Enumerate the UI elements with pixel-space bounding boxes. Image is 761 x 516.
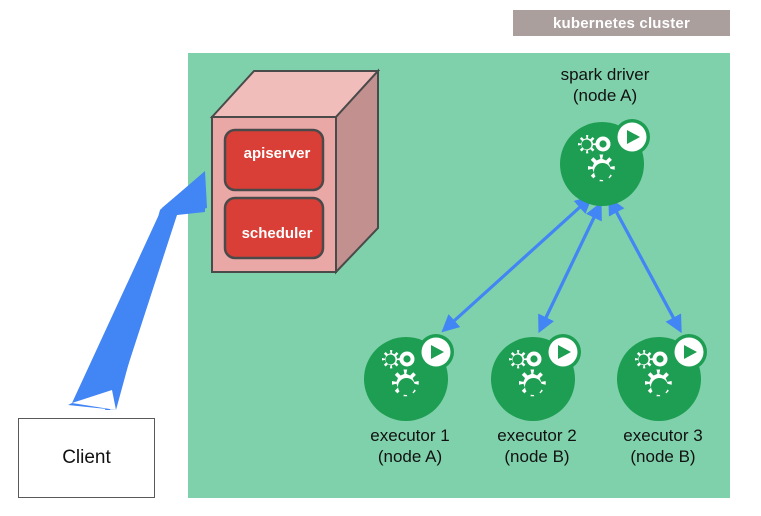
spark-driver-caption: spark driver (node A) [530, 64, 680, 107]
executor-2-node-icon[interactable] [487, 333, 583, 423]
client-label: Client [62, 447, 111, 469]
client-box[interactable]: Client [18, 418, 155, 498]
diagram-canvas: kubernetes cluster apiserver scheduler [0, 0, 761, 516]
spark-driver-node: (node A) [530, 85, 680, 106]
executor-3-caption: executor 3 (node B) [588, 425, 738, 468]
kubernetes-cluster-badge: kubernetes cluster [513, 10, 730, 36]
spark-driver-node-icon[interactable] [556, 118, 652, 208]
executor-1-node-icon[interactable] [360, 333, 456, 423]
scheduler-label: scheduler [217, 225, 337, 242]
apiserver-label: apiserver [217, 145, 337, 162]
control-plane-cube: apiserver scheduler [205, 65, 385, 280]
executor-3-node-icon[interactable] [613, 333, 709, 423]
spark-driver-name: spark driver [530, 64, 680, 85]
executor-3-name: executor 3 [588, 425, 738, 446]
spark-submit-arrow: spark-submit [50, 160, 225, 420]
executor-3-node: (node B) [588, 446, 738, 467]
